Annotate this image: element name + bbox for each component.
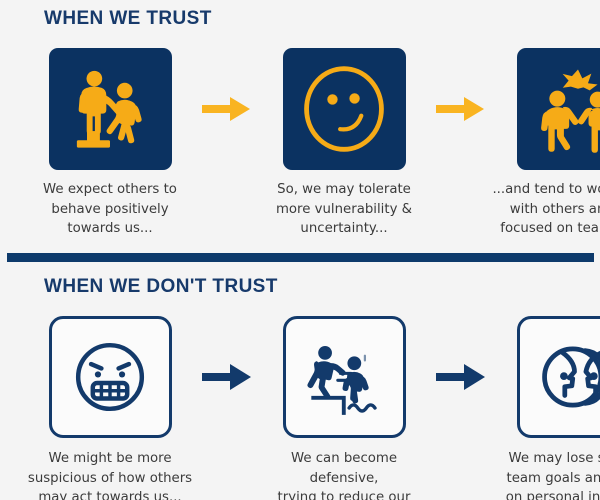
caption-line: uncertainty... [256, 219, 432, 239]
high-five-icon [531, 62, 600, 156]
section-when-we-dont-trust: WHEN WE DON'T TRUST [0, 268, 600, 500]
section-when-we-trust: WHEN WE TRUST [0, 0, 600, 248]
caption-line: We may lose sight of [490, 449, 600, 469]
caption-line: suspicious of how others [22, 469, 198, 489]
trust-infographic: WHEN WE TRUST [0, 0, 600, 500]
caption-line: towards us... [22, 219, 198, 239]
arrow-cell-distrust-1 [194, 316, 260, 438]
arrow-right-icon [202, 362, 252, 392]
step-distrust-2: We can become defensive, trying to reduc… [260, 316, 428, 500]
step-trust-2: So, we may tolerate more vulnerability &… [260, 48, 428, 239]
two-opposing-faces-icon [534, 333, 600, 421]
arrow-cell-trust-1 [194, 48, 260, 170]
caption-line: ...and tend to work better [490, 180, 600, 200]
icon-tile-trust-1 [49, 48, 172, 170]
icon-tile-distrust-3 [517, 316, 600, 438]
caption-line: trying to reduce our [256, 488, 432, 500]
caption-trust-2: So, we may tolerate more vulnerability &… [256, 180, 432, 239]
arrow-cell-trust-2 [428, 48, 494, 170]
icon-tile-trust-3 [517, 48, 600, 170]
caption-line: We expect others to [22, 180, 198, 200]
smiley-face-icon [296, 61, 392, 157]
icon-tile-distrust-1 [49, 316, 172, 438]
step-trust-1: We expect others to behave positively to… [26, 48, 194, 239]
step-trust-3: ...and tend to work better with others a… [494, 48, 600, 239]
step-distrust-3: We may lose sight of team goals and focu… [494, 316, 600, 500]
caption-line: So, we may tolerate [256, 180, 432, 200]
section-divider [7, 253, 594, 262]
arrow-cell-distrust-2 [428, 316, 494, 438]
section-title-distrust: WHEN WE DON'T TRUST [44, 276, 278, 298]
caption-line: may act towards us... [22, 488, 198, 500]
caption-trust-1: We expect others to behave positively to… [22, 180, 198, 239]
icon-tile-trust-2 [283, 48, 406, 170]
caption-line: on personal interests. [490, 488, 600, 500]
arrow-right-icon [202, 94, 252, 124]
caption-line: We can become defensive, [256, 449, 432, 488]
arrow-right-icon [436, 94, 486, 124]
icon-tile-distrust-2 [283, 316, 406, 438]
caption-distrust-3: We may lose sight of team goals and focu… [490, 449, 600, 500]
caption-distrust-2: We can become defensive, trying to reduc… [256, 449, 432, 500]
caption-line: focused on team goals. [490, 219, 600, 239]
section-title-trust: WHEN WE TRUST [44, 8, 212, 30]
steps-row-trust: We expect others to behave positively to… [0, 48, 600, 239]
caption-line: We might be more [22, 449, 198, 469]
caption-line: more vulnerability & [256, 200, 432, 220]
grimacing-face-icon [67, 334, 153, 420]
caption-trust-3: ...and tend to work better with others a… [490, 180, 600, 239]
step-distrust-1: We might be more suspicious of how other… [26, 316, 194, 500]
caption-distrust-1: We might be more suspicious of how other… [22, 449, 198, 500]
caption-line: with others and stay [490, 200, 600, 220]
caption-line: behave positively [22, 200, 198, 220]
caption-line: team goals and focus [490, 469, 600, 489]
helping-hand-pedestal-icon [64, 63, 156, 155]
pushing-off-ledge-icon [301, 334, 387, 420]
arrow-right-icon [436, 362, 486, 392]
steps-row-distrust: We might be more suspicious of how other… [0, 316, 600, 500]
